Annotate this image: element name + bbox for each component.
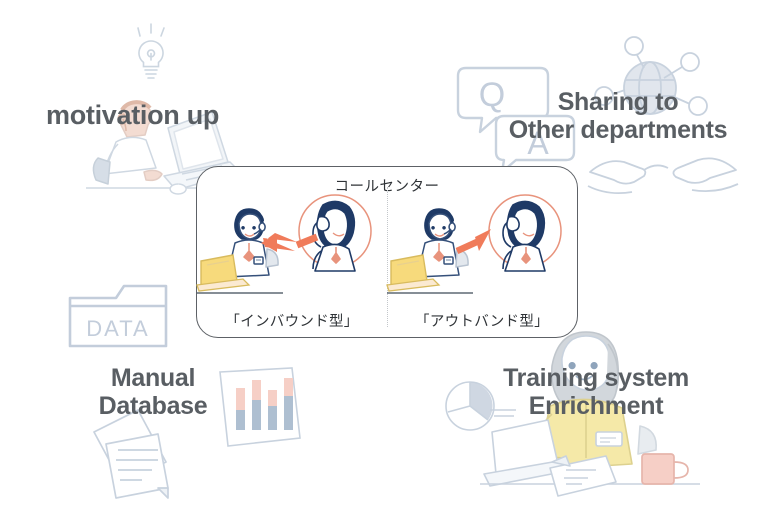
label-training-system-enrichment: Training system Enrichment <box>474 364 718 420</box>
label-motivation-up: motivation up <box>46 100 219 130</box>
inbound-scene <box>197 189 387 301</box>
coffee-cup-icon <box>638 448 696 496</box>
outbound-arrow <box>457 229 491 251</box>
label-manual-database: Manual Database <box>86 364 220 420</box>
outbound-caption: 「アウトバンド型」 <box>387 310 577 331</box>
label-sharing-to-other-departments: Sharing to Other departments <box>472 88 764 144</box>
notepad-icon <box>546 450 636 500</box>
inbound-caption: 「インバウンド型」 <box>197 310 387 331</box>
outbound-scene <box>387 189 577 301</box>
lightbulb-idea-icon <box>118 22 190 92</box>
infographic-canvas: motivation up Q A <box>0 0 768 512</box>
handshake-illustration <box>588 136 738 196</box>
inbound-section: 「インバウンド型」 <box>197 167 387 337</box>
bar-chart-illustration <box>216 366 308 450</box>
call-center-panel: コールセンター <box>196 166 578 338</box>
data-folder-icon: DATA <box>66 276 170 352</box>
data-folder-label: DATA <box>86 316 149 341</box>
outbound-section: 「アウトバンド型」 <box>387 167 577 337</box>
